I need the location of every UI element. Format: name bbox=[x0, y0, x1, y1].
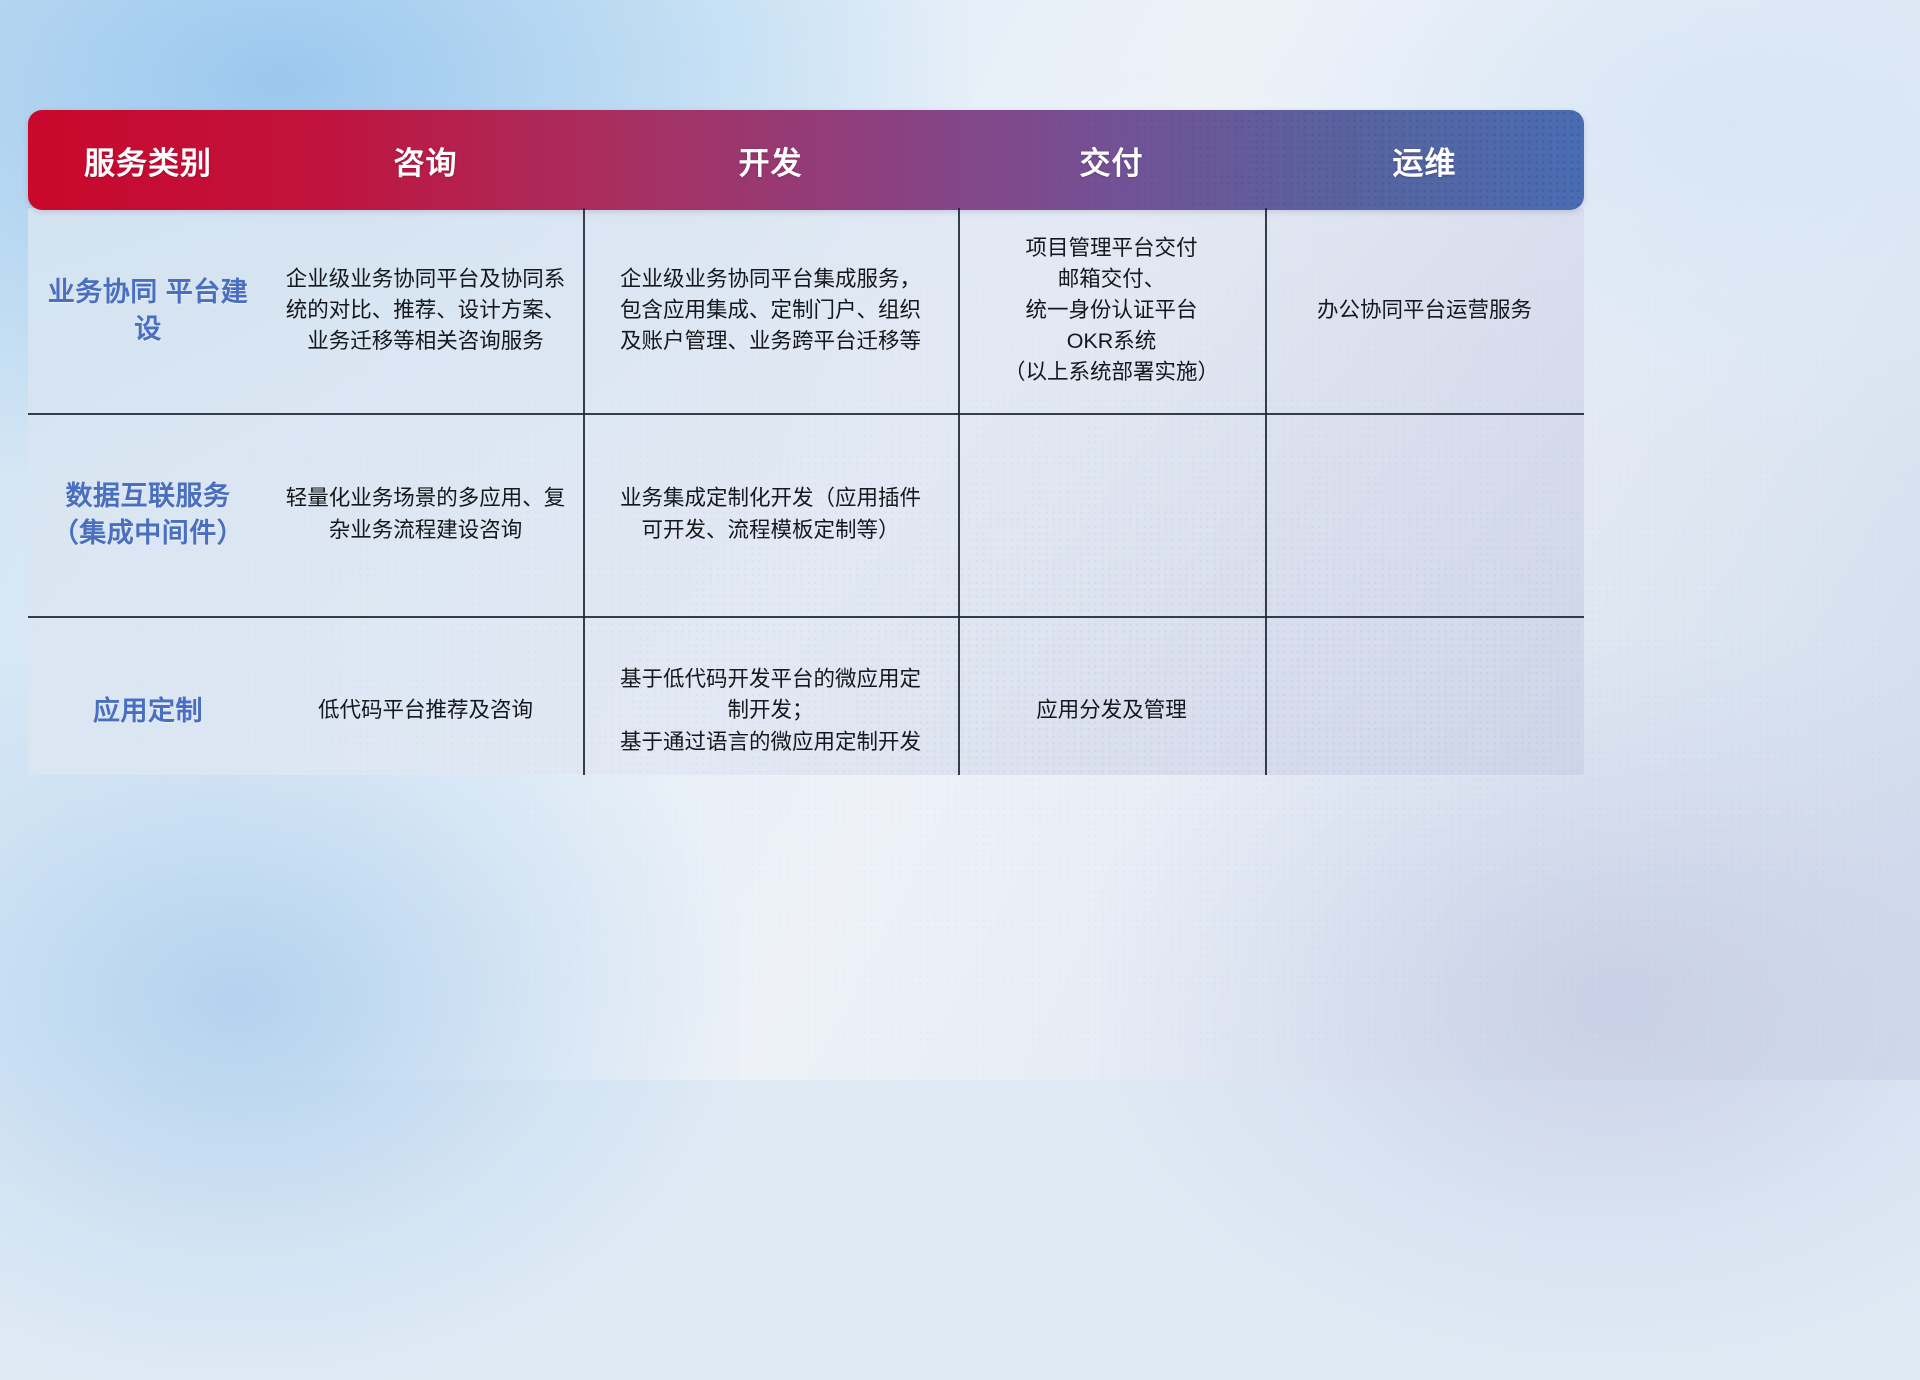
cell-development: 基于低代码开发平台的微应用定 制开发； 基于通过语言的微应用定制开发 bbox=[583, 616, 958, 806]
row-label-cell: 业务协同 平台建设 bbox=[28, 208, 268, 413]
header-cell-development: 开发 bbox=[583, 138, 958, 183]
cell-consulting: 轻量化业务场景的多应用、复 杂业务流程建设咨询 bbox=[268, 413, 583, 616]
cell-consulting: 低代码平台推荐及咨询 bbox=[268, 616, 583, 806]
cell-development: 业务集成定制化开发（应用插件 可开发、流程模板定制等） bbox=[583, 413, 958, 616]
cell-text: 基于低代码开发平台的微应用定 制开发； 基于通过语言的微应用定制开发 bbox=[620, 664, 921, 758]
service-matrix-table: 服务类别 咨询 开发 交付 运维 业务协同 平台建设 企业级业务协同平台及协同系… bbox=[28, 110, 1584, 775]
header-cell-delivery: 交付 bbox=[958, 138, 1265, 183]
table-row: 数据互联服务 （集成中间件） 轻量化业务场景的多应用、复 杂业务流程建设咨询 业… bbox=[28, 413, 1584, 616]
cell-development: 企业级业务协同平台集成服务， 包含应用集成、定制门户、组织 及账户管理、业务跨平… bbox=[583, 208, 958, 413]
table-row: 业务协同 平台建设 企业级业务协同平台及协同系 统的对比、推荐、设计方案、 业务… bbox=[28, 208, 1584, 413]
cell-operations bbox=[1265, 616, 1584, 806]
cell-text: 项目管理平台交付 邮箱交付、 统一身份认证平台 OKR系统 （以上系统部署实施） bbox=[1004, 233, 1219, 389]
cell-text: 低代码平台推荐及咨询 bbox=[318, 695, 533, 726]
cell-text: 业务集成定制化开发（应用插件 可开发、流程模板定制等） bbox=[620, 483, 921, 545]
table-header-row: 服务类别 咨询 开发 交付 运维 bbox=[28, 110, 1584, 210]
table-row: 应用定制 低代码平台推荐及咨询 基于低代码开发平台的微应用定 制开发； 基于通过… bbox=[28, 616, 1584, 806]
cell-text: 应用分发及管理 bbox=[1036, 695, 1187, 726]
cell-delivery: 应用分发及管理 bbox=[958, 616, 1265, 806]
header-cell-consulting: 咨询 bbox=[268, 138, 583, 183]
cell-delivery: 项目管理平台交付 邮箱交付、 统一身份认证平台 OKR系统 （以上系统部署实施） bbox=[958, 208, 1265, 413]
row-label-cell: 数据互联服务 （集成中间件） bbox=[28, 413, 268, 616]
row-label-text: 业务协同 平台建设 bbox=[42, 274, 254, 347]
cell-operations: 办公协同平台运营服务 bbox=[1265, 208, 1584, 413]
cell-text: 办公协同平台运营服务 bbox=[1317, 295, 1532, 326]
cell-delivery bbox=[958, 413, 1265, 616]
row-label-text: 数据互联服务 （集成中间件） bbox=[42, 478, 254, 551]
cell-text: 企业级业务协同平台及协同系 统的对比、推荐、设计方案、 业务迁移等相关咨询服务 bbox=[286, 264, 566, 358]
header-cell-operations: 运维 bbox=[1265, 138, 1584, 183]
cell-consulting: 企业级业务协同平台及协同系 统的对比、推荐、设计方案、 业务迁移等相关咨询服务 bbox=[268, 208, 583, 413]
cell-operations bbox=[1265, 413, 1584, 616]
row-label-text: 应用定制 bbox=[93, 693, 203, 729]
header-cell-service-category: 服务类别 bbox=[28, 138, 268, 183]
cell-text: 轻量化业务场景的多应用、复 杂业务流程建设咨询 bbox=[286, 483, 566, 545]
row-label-cell: 应用定制 bbox=[28, 616, 268, 806]
cell-text: 企业级业务协同平台集成服务， 包含应用集成、定制门户、组织 及账户管理、业务跨平… bbox=[620, 264, 921, 358]
